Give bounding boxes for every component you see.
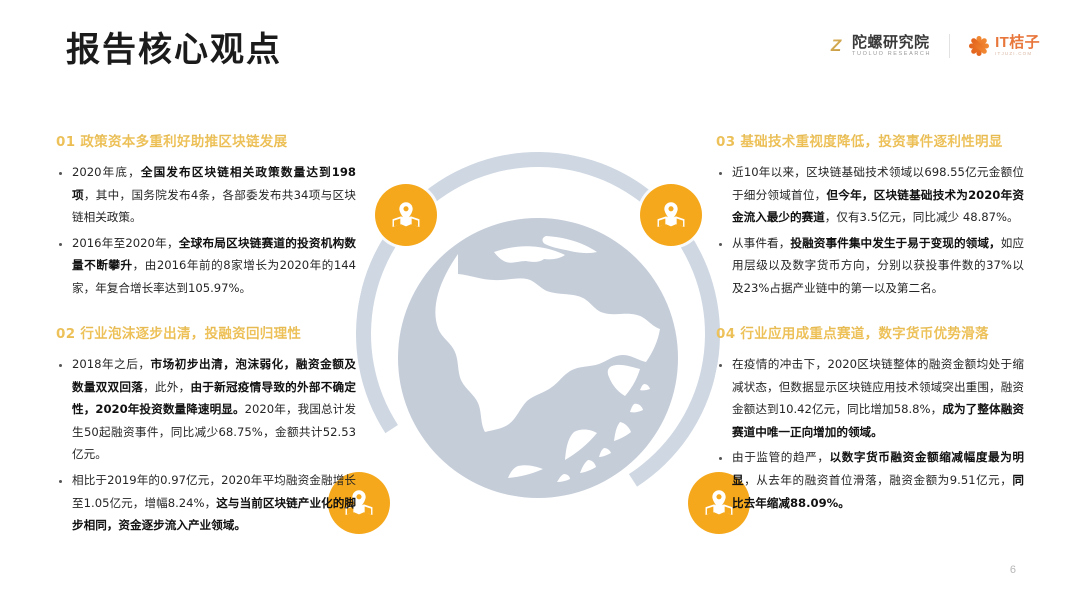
bullet-item: 相比于2019年的0.97亿元，2020年平均融资金融增长至1.05亿元，增幅8… (56, 469, 356, 537)
bullet-item: 从事件看，投融资事件集中发生于易于变现的领域，如应用层级以及数字货币方向，分别以… (716, 232, 1024, 300)
logo-bar: Z 陀螺研究院 TUOLUO RESEARCH IT桔子 ITJUZI.COM (825, 34, 1040, 58)
section-03-heading: 03 基础技术重视度降低，投资事件逐利性明显 (716, 130, 1024, 150)
section-01-bullets: 2020年底，全国发布区块链相关政策数量达到198项，其中，国务院发布4条，各部… (56, 161, 356, 300)
bullet-item: 由于监管的趋严，以数字货币融资金额缩减幅度最为明显，从去年的融资首位滑落，融资金… (716, 446, 1024, 514)
globe-graphic (336, 148, 740, 568)
bullet-item: 近10年以来，区块链基础技术领域以698.55亿元金额位于细分领域首位，但今年，… (716, 161, 1024, 229)
page-number: 6 (1010, 564, 1016, 576)
logo-tuoluo: Z 陀螺研究院 TUOLUO RESEARCH (825, 35, 931, 58)
logo-z-mark: Z (825, 35, 847, 57)
section-04-bullets: 在疫情的冲击下，2020区块链整体的融资金额均处于缩减状态，但数据显示区块链应用… (716, 353, 1024, 514)
section-01-heading: 01 政策资本多重利好助推区块链发展 (56, 130, 356, 150)
flower-icon (968, 35, 990, 57)
logo-itjuzi-cn: IT桔子 (995, 35, 1040, 50)
section-01: 01 政策资本多重利好助推区块链发展 2020年底，全国发布区块链相关政策数量达… (56, 130, 356, 303)
globe-icon (398, 218, 678, 498)
bullet-item: 2018年之后，市场初步出清，泡沫弱化，融资金额及数量双双回落，此外，由于新冠疫… (56, 353, 356, 466)
section-02-bullets: 2018年之后，市场初步出清，泡沫弱化，融资金额及数量双双回落，此外，由于新冠疫… (56, 353, 356, 537)
bullet-item: 在疫情的冲击下，2020区块链整体的融资金额均处于缩减状态，但数据显示区块链应用… (716, 353, 1024, 443)
logo-tuoluo-en: TUOLUO RESEARCH (852, 52, 931, 58)
bullet-item: 2020年底，全国发布区块链相关政策数量达到198项，其中，国务院发布4条，各部… (56, 161, 356, 229)
section-03: 03 基础技术重视度降低，投资事件逐利性明显 近10年以来，区块链基础技术领域以… (716, 130, 1024, 303)
logo-itjuzi: IT桔子 ITJUZI.COM (968, 35, 1040, 57)
bullet-item: 2016年至2020年，全球布局区块链赛道的投资机构数量不断攀升，由2016年前… (56, 232, 356, 300)
slide-root: 报告核心观点 Z 陀螺研究院 TUOLUO RESEARCH IT桔子 ITJU… (0, 0, 1080, 608)
map-pin-icon (654, 198, 688, 232)
section-02-heading: 02 行业泡沫逐步出清，投融资回归理性 (56, 322, 356, 342)
page-title: 报告核心观点 (66, 32, 282, 69)
logo-divider (949, 34, 950, 58)
logo-tuoluo-cn: 陀螺研究院 (852, 35, 931, 50)
logo-itjuzi-en: ITJUZI.COM (995, 52, 1040, 57)
section-04: 04 行业应用成重点赛道，数字货币优势滑落 在疫情的冲击下，2020区块链整体的… (716, 322, 1024, 517)
map-pin-badge-1[interactable] (375, 184, 437, 246)
map-pin-icon (389, 198, 423, 232)
section-03-bullets: 近10年以来，区块链基础技术领域以698.55亿元金额位于细分领域首位，但今年，… (716, 161, 1024, 300)
section-04-heading: 04 行业应用成重点赛道，数字货币优势滑落 (716, 322, 1024, 342)
map-pin-badge-2[interactable] (640, 184, 702, 246)
section-02: 02 行业泡沫逐步出清，投融资回归理性 2018年之后，市场初步出清，泡沫弱化，… (56, 322, 356, 540)
